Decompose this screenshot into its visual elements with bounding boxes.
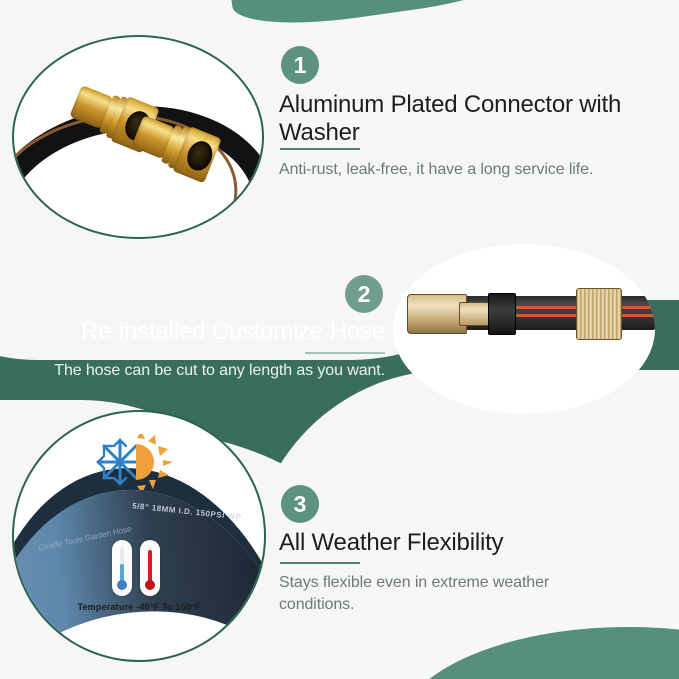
snowflake-sun-icon [92,434,174,490]
feature-description-2: The hose can be cut to any length as you… [40,360,385,382]
thermometer-hot [140,540,160,596]
diagram-black-collar [488,293,516,335]
temperature-range-label: Temperature -40°F To 150°F [14,602,264,612]
feature-badge-3: 3 [281,485,319,523]
feature-divider-1 [280,148,360,150]
feature-divider-2 [305,352,385,354]
thermometer-cold [112,540,132,596]
feature-badge-1: 1 [281,46,319,84]
feature-description-1: Anti-rust, leak-free, it have a long ser… [279,159,609,181]
product-photo-connectors [12,35,264,239]
green-dome-bottom-right [398,627,679,679]
diagram-plug-barb [459,302,489,326]
feature-divider-3 [280,562,360,564]
feature-title-1: Aluminum Plated Connector with Washer [279,91,659,147]
feature-title-3: All Weather Flexibility [279,529,659,557]
feature-title-2: Re-installed Customize Hose [40,318,385,346]
diagram-brass-nut [576,288,622,340]
product-photo-blue-hose: 5/8" 18MM I.D. 150PSI WP Giraffe Tools G… [12,410,266,662]
product-photo-cutaway-connector [393,244,655,414]
diagram-threaded-plug [407,294,467,334]
feature-badge-2: 2 [345,275,383,313]
feature-description-3: Stays flexible even in extreme weather c… [279,572,619,615]
product-feature-infographic: 5/8" 18MM I.D. 150PSI WP Giraffe Tools G… [0,0,679,679]
